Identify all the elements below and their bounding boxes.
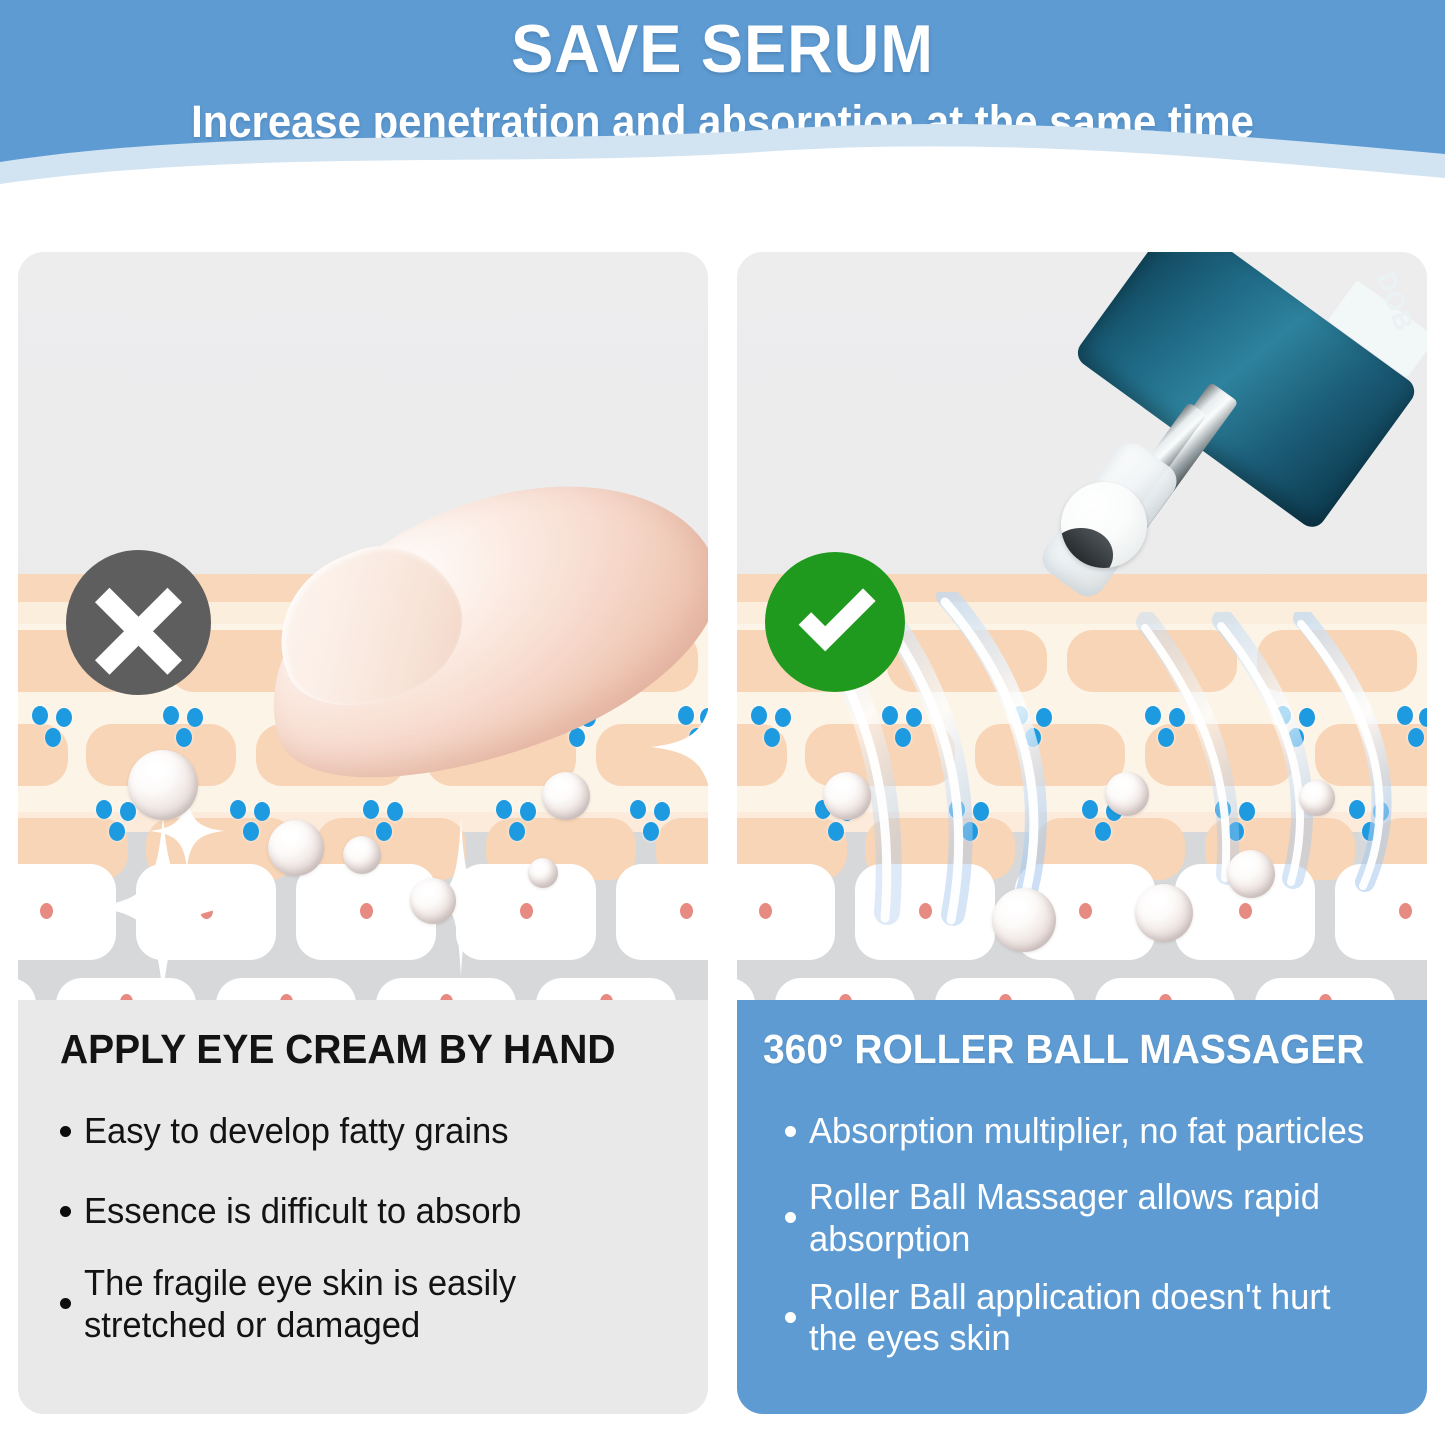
roller-ball (1061, 482, 1147, 568)
sparkle-icon (88, 812, 238, 1000)
sparkle-icon (648, 682, 708, 812)
bullet-dot-icon (785, 1126, 796, 1137)
serum-pearl (343, 836, 381, 874)
dermis-cell (616, 864, 708, 960)
serum-pearl (1299, 780, 1335, 816)
footer-hand-method: APPLY EYE CREAM BY HAND Easy to develop … (18, 1000, 708, 1414)
list-item: Roller Ball Massager allows rapid absorp… (737, 1176, 1427, 1260)
comparison-panel-hand: APPLY EYE CREAM BY HAND Easy to develop … (18, 252, 708, 1414)
serum-pearl (128, 750, 198, 820)
page-header: SAVE SERUM Increase penetration and abso… (0, 0, 1445, 215)
serum-pearl (268, 820, 324, 876)
bullet-dot-icon (785, 1212, 796, 1223)
serum-pearl (1227, 850, 1275, 898)
serum-pearl (410, 878, 456, 924)
bullet-dot-icon (785, 1312, 796, 1323)
list-item-label: Roller Ball application doesn't hurt the… (809, 1276, 1370, 1360)
bullet-dot-icon (60, 1126, 71, 1137)
serum-pearl (528, 858, 558, 888)
x-mark-icon (66, 550, 211, 695)
footer-title: APPLY EYE CREAM BY HAND (60, 1026, 616, 1073)
list-item: Roller Ball application doesn't hurt the… (737, 1276, 1427, 1360)
list-item-label: Roller Ball Massager allows rapid absorp… (809, 1176, 1370, 1260)
feature-list-roller: Absorption multiplier, no fat particles … (737, 1100, 1427, 1359)
comparison-panel-roller: DOB 360° ROLLER BALL MASSAGER Absorption… (737, 252, 1427, 1414)
serum-pearl (542, 772, 590, 820)
list-item: Easy to develop fatty grains (18, 1100, 708, 1162)
x-mark-glyph (66, 550, 211, 695)
illustration-roller-application: DOB (737, 252, 1427, 1000)
check-mark-glyph (765, 552, 905, 692)
list-item-label: Essence is difficult to absorb (84, 1190, 521, 1232)
list-item-label: Absorption multiplier, no fat particles (809, 1110, 1364, 1152)
serum-pearl (1135, 884, 1193, 942)
bullet-dot-icon (60, 1206, 71, 1217)
list-item: Absorption multiplier, no fat particles (737, 1100, 1427, 1162)
serum-pearl (1105, 772, 1149, 816)
serum-pearl (823, 772, 871, 820)
list-item-label: Easy to develop fatty grains (84, 1110, 509, 1152)
bullet-dot-icon (60, 1298, 71, 1309)
feature-list-hand: Easy to develop fatty grains Essence is … (18, 1100, 708, 1346)
page-title: SAVE SERUM (51, 10, 1395, 88)
list-item: Essence is difficult to absorb (18, 1180, 708, 1242)
footer-roller-method: 360° ROLLER BALL MASSAGER Absorption mul… (737, 1000, 1427, 1414)
illustration-hand-application (18, 252, 708, 1000)
roller-ball-metal-base (1061, 528, 1113, 568)
list-item-label: The fragile eye skin is easily stretched… (84, 1262, 650, 1346)
serum-pearl (992, 888, 1056, 952)
list-item: The fragile eye skin is easily stretched… (18, 1262, 708, 1346)
footer-title: 360° ROLLER BALL MASSAGER (763, 1026, 1364, 1073)
check-mark-icon (765, 552, 905, 692)
header-wave-decoration (0, 110, 1445, 215)
